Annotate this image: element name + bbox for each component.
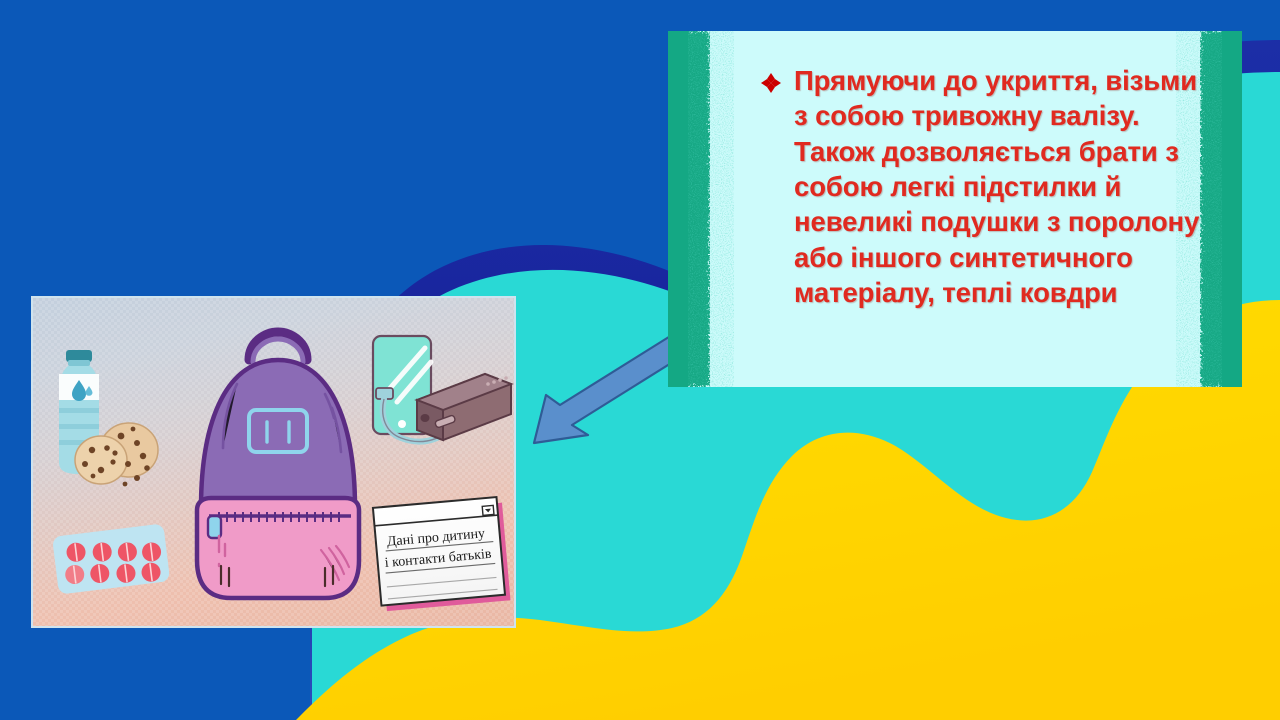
instruction-text: Прямуючи до укриття, візьми з собою трив… bbox=[794, 63, 1199, 310]
illustration-contents: Дані про дитину і контакти батьків bbox=[33, 298, 516, 628]
card-body: Прямуючи до укриття, візьми з собою трив… bbox=[760, 63, 1202, 310]
red-diamond-bullet-icon bbox=[760, 72, 782, 99]
backpack-icon bbox=[197, 332, 359, 598]
info-note-card-icon: Дані про дитину і контакти батьків bbox=[373, 497, 511, 612]
slide-canvas: Дані про дитину і контакти батьків bbox=[0, 0, 1280, 720]
instruction-text-card: Прямуючи до укриття, візьми з собою трив… bbox=[668, 31, 1242, 387]
arrow-down-left-icon bbox=[524, 333, 684, 447]
pill-blister-pack-icon bbox=[52, 523, 170, 594]
emergency-kit-illustration: Дані про дитину і контакти батьків bbox=[31, 296, 516, 628]
card-left-brush-edge bbox=[668, 31, 734, 387]
